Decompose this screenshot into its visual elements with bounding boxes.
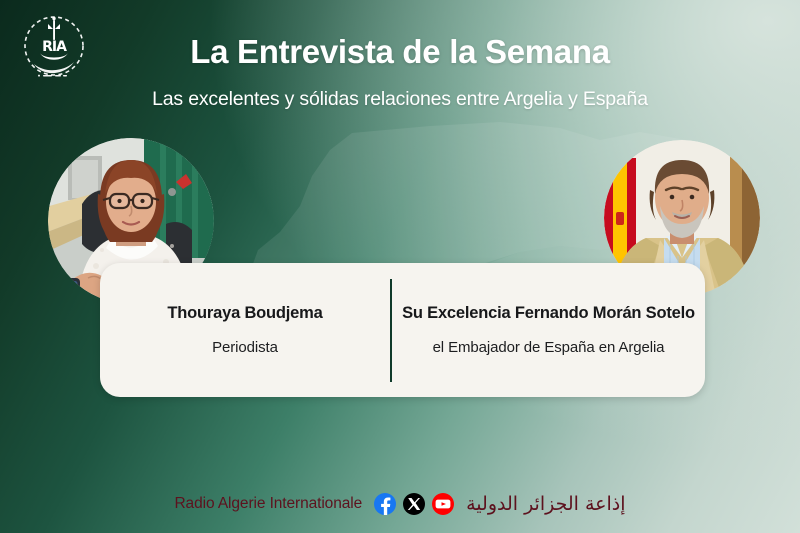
page-title: La Entrevista de la Semana [0,33,800,71]
footer-bar: Radio Algerie Internationale إذاعة الجزا… [0,493,800,515]
facebook-icon[interactable] [374,493,396,515]
footer-latin-text: Radio Algerie Internationale [174,495,362,513]
guest-block-ambassador: Su Excelencia Fernando Morán Sotelo el E… [392,304,705,356]
guest-name-journalist: Thouraya Boudjema [167,304,322,323]
youtube-icon[interactable] [432,493,454,515]
social-links [374,493,454,515]
footer-arabic-text: إذاعة الجزائر الدولية [466,493,625,515]
poster-canvas: RIA La Entrevista de la Semana Las excel… [0,0,800,533]
guest-role-ambassador: el Embajador de España en Argelia [433,339,665,356]
x-twitter-icon[interactable] [403,493,425,515]
guest-name-ambassador: Su Excelencia Fernando Morán Sotelo [402,304,695,323]
page-subtitle: Las excelentes y sólidas relaciones entr… [0,88,800,111]
guest-name-card: Thouraya Boudjema Periodista Su Excelenc… [100,263,705,397]
guest-block-journalist: Thouraya Boudjema Periodista [100,304,390,356]
guest-role-journalist: Periodista [212,339,278,356]
